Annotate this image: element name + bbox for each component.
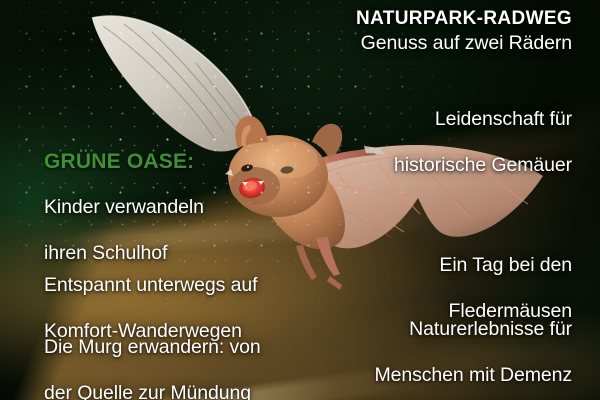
teaser-murg-erwandern-line2: der Quelle zur Mündung: [44, 382, 251, 400]
teaser-gruene-oase-line1: Kinder verwandeln: [44, 196, 204, 218]
poster-cover: NATURPARK-RADWEG Genuss auf zwei Rädern …: [0, 0, 600, 400]
teaser-fledermaeuse-line1: Ein Tag bei den: [439, 254, 572, 276]
teaser-gruene-oase-headline[interactable]: GRÜNE OASE:: [44, 150, 194, 175]
teaser-historische-gemaeuer-line1: Leidenschaft für: [435, 108, 572, 130]
teaser-naturerlebnisse-demenz-line2: Menschen mit Demenz: [374, 364, 572, 386]
teaser-naturerlebnisse-demenz-line1: Naturerlebnisse für: [409, 318, 572, 340]
teaser-murg-erwandern[interactable]: Die Murg erwandern: von der Quelle zur M…: [44, 313, 261, 400]
teaser-naturpark-radweg-headline[interactable]: NATURPARK-RADWEG: [356, 8, 572, 30]
teaser-historische-gemaeuer[interactable]: Leidenschaft für historische Gemäuer: [394, 85, 572, 177]
teaser-murg-erwandern-line1: Die Murg erwandern: von: [44, 336, 261, 358]
teaser-komfort-wanderwege-line1: Entspannt unterwegs auf: [44, 274, 257, 296]
teaser-naturpark-radweg-subline[interactable]: Genuss auf zwei Rädern: [361, 32, 572, 55]
teaser-historische-gemaeuer-line2: historische Gemäuer: [394, 154, 572, 176]
teaser-naturerlebnisse-demenz[interactable]: Naturerlebnisse für Menschen mit Demenz: [374, 295, 572, 387]
